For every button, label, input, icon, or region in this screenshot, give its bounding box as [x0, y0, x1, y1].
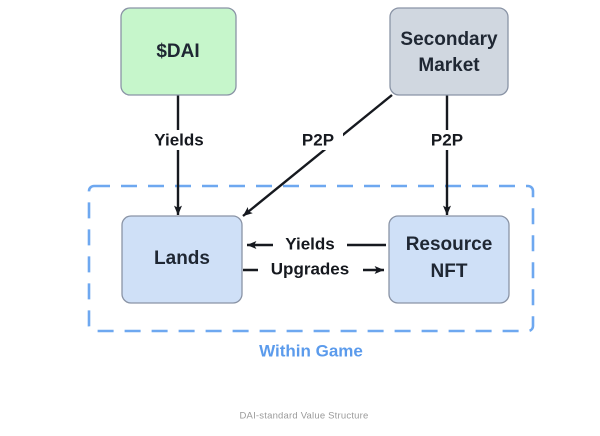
node-resource-nft-label-line1: Resource: [406, 234, 493, 255]
node-resource-nft-box[interactable]: [389, 216, 509, 303]
edge-market-to-lands: P2P: [243, 95, 392, 216]
node-resource-nft[interactable]: Resource NFT: [389, 216, 509, 303]
value-structure-diagram: Yields P2P P2P Yields Upgrades: [0, 0, 600, 436]
node-resource-nft-label-line2: NFT: [431, 261, 468, 282]
edge-label-p2p-lands: P2P: [302, 130, 334, 149]
edge-label-yields-dai: Yields: [154, 130, 203, 149]
edge-dai-to-lands: Yields: [143, 95, 215, 215]
edge-resource-to-lands-yields: Yields: [247, 234, 386, 255]
node-secondary-market-label-line1: Secondary: [400, 29, 498, 50]
diagram-caption: DAI-standard Value Structure: [240, 411, 369, 422]
edge-lands-to-resource-upgrades: Upgrades: [243, 259, 384, 280]
node-dai[interactable]: $DAI: [121, 8, 236, 95]
node-secondary-market[interactable]: Secondary Market: [390, 8, 508, 95]
edge-label-upgrades: Upgrades: [271, 259, 349, 278]
edge-line-market-lands: [243, 95, 392, 216]
node-secondary-market-box[interactable]: [390, 8, 508, 95]
within-game-label: Within Game: [259, 341, 363, 360]
edge-label-yields-resource: Yields: [285, 234, 334, 253]
node-secondary-market-label-line2: Market: [418, 55, 480, 76]
node-dai-label: $DAI: [156, 41, 199, 62]
node-lands[interactable]: Lands: [122, 216, 242, 303]
edge-market-to-resource: P2P: [422, 95, 472, 215]
node-lands-label: Lands: [154, 248, 210, 269]
edge-label-p2p-resource: P2P: [431, 130, 463, 149]
diagram-canvas: Yields P2P P2P Yields Upgrades: [0, 0, 600, 436]
